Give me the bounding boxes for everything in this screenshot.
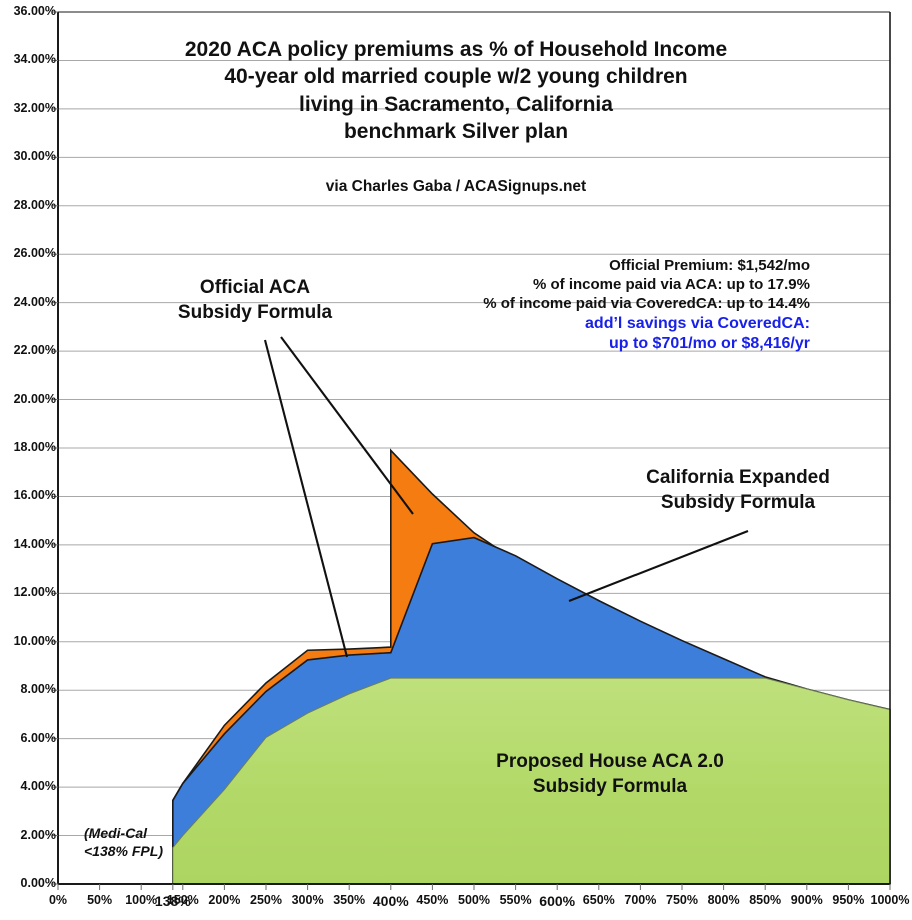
x-tick-label: 500%: [458, 893, 490, 907]
premium-note-line-3: % of income paid via CoveredCA: up to 14…: [380, 294, 810, 313]
x-tick-label: 750%: [666, 893, 698, 907]
x-tick-label: 150%: [167, 893, 199, 907]
x-tick-label: 0%: [49, 893, 67, 907]
y-tick-label: 28.00%: [0, 198, 56, 212]
premium-note-line-4: add’l savings via CoveredCA:: [380, 314, 810, 334]
y-tick-label: 36.00%: [0, 4, 56, 18]
x-tick-label: 850%: [749, 893, 781, 907]
y-tick-label: 2.00%: [0, 828, 56, 842]
x-tick-label: 700%: [624, 893, 656, 907]
callout-official-aca-line-2: Subsidy Formula: [160, 301, 350, 326]
callout-medi-cal-line-1: (Medi-Cal: [84, 825, 194, 843]
x-axis-ticks: [58, 884, 890, 890]
callout-california-expanded: California Expanded Subsidy Formula: [608, 466, 868, 515]
y-tick-label: 16.00%: [0, 488, 56, 502]
y-tick-label: 6.00%: [0, 731, 56, 745]
title-line-4: benchmark Silver plan: [96, 118, 816, 145]
callout-official-aca: Official ACA Subsidy Formula: [160, 276, 350, 325]
callout-medi-cal-line-2: <138% FPL): [84, 843, 194, 861]
x-tick-label: 250%: [250, 893, 282, 907]
x-tick-label: 400%: [373, 893, 409, 909]
premium-summary-note: Official Premium: $1,542/mo % of income …: [380, 256, 810, 355]
y-tick-label: 32.00%: [0, 101, 56, 115]
callout-official-aca-line-1: Official ACA: [160, 276, 350, 301]
callout-house-aca-20-line-1: Proposed House ACA 2.0: [455, 750, 765, 775]
title-line-1: 2020 ACA policy premiums as % of Househo…: [96, 36, 816, 63]
x-tick-label: 100%: [125, 893, 157, 907]
callout-california-expanded-line-1: California Expanded: [608, 466, 868, 491]
y-tick-label: 24.00%: [0, 295, 56, 309]
chart-title: 2020 ACA policy premiums as % of Househo…: [96, 36, 816, 145]
premium-note-line-2: % of income paid via ACA: up to 17.9%: [380, 275, 810, 294]
y-tick-label: 22.00%: [0, 343, 56, 357]
x-tick-label: 600%: [539, 893, 575, 909]
x-tick-label: 350%: [333, 893, 365, 907]
callout-house-aca-20-line-2: Subsidy Formula: [455, 775, 765, 800]
x-tick-label: 950%: [832, 893, 864, 907]
title-line-3: living in Sacramento, California: [96, 91, 816, 118]
x-tick-label: 900%: [791, 893, 823, 907]
y-tick-label: 20.00%: [0, 392, 56, 406]
chart-page: 2020 ACA policy premiums as % of Househo…: [0, 0, 912, 920]
callout-house-aca-20: Proposed House ACA 2.0 Subsidy Formula: [455, 750, 765, 799]
y-tick-label: 30.00%: [0, 149, 56, 163]
x-tick-label: 50%: [87, 893, 112, 907]
x-tick-label: 650%: [583, 893, 615, 907]
y-tick-label: 34.00%: [0, 52, 56, 66]
y-tick-label: 8.00%: [0, 682, 56, 696]
y-tick-label: 4.00%: [0, 779, 56, 793]
title-line-2: 40-year old married couple w/2 young chi…: [96, 63, 816, 90]
chart-credit: via Charles Gaba / ACASignups.net: [96, 178, 816, 196]
x-tick-label: 800%: [708, 893, 740, 907]
callout-medi-cal: (Medi-Cal <138% FPL): [84, 825, 194, 860]
y-tick-label: 14.00%: [0, 537, 56, 551]
x-tick-label: 550%: [500, 893, 532, 907]
premium-note-line-5: up to $701/mo or $8,416/yr: [380, 334, 810, 354]
callout-california-expanded-line-2: Subsidy Formula: [608, 491, 868, 516]
y-tick-label: 10.00%: [0, 634, 56, 648]
x-tick-label: 200%: [208, 893, 240, 907]
x-tick-label: 1000%: [871, 893, 910, 907]
x-tick-label: 450%: [416, 893, 448, 907]
premium-note-line-1: Official Premium: $1,542/mo: [380, 256, 810, 275]
y-tick-label: 18.00%: [0, 440, 56, 454]
y-tick-label: 26.00%: [0, 246, 56, 260]
y-tick-label: 12.00%: [0, 585, 56, 599]
y-tick-label: 0.00%: [0, 876, 56, 890]
x-tick-label: 300%: [292, 893, 324, 907]
